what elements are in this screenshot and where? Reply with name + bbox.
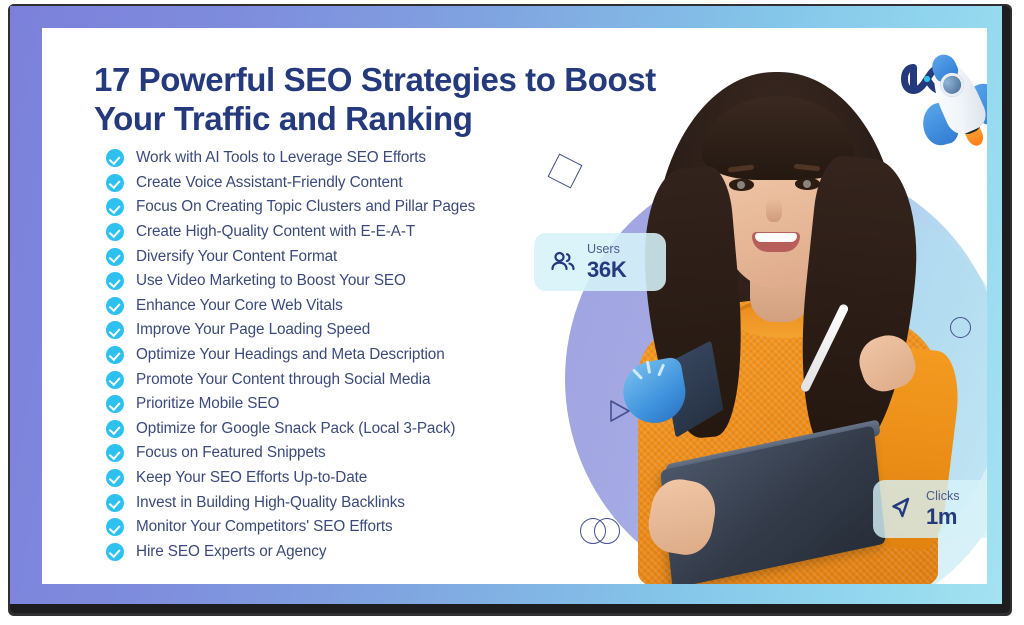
list-item-label: Hire SEO Experts or Agency <box>136 543 326 561</box>
eye-right <box>795 178 820 190</box>
seo-strategy-checklist: Work with AI Tools to Leverage SEO Effor… <box>106 146 576 564</box>
stat-label: Users <box>587 243 626 256</box>
check-circle-icon <box>106 297 124 315</box>
list-item: Hire SEO Experts or Agency <box>106 540 576 565</box>
check-circle-icon <box>106 469 124 487</box>
stat-label: Clicks <box>926 490 960 503</box>
overlapping-circles-outline-icon <box>580 518 624 546</box>
list-item-label: Focus On Creating Topic Clusters and Pil… <box>136 198 475 216</box>
list-item-label: Promote Your Content through Social Medi… <box>136 371 430 389</box>
circle-outline-icon <box>950 317 971 338</box>
stat-value: 1m <box>926 506 960 528</box>
list-item: Prioritize Mobile SEO <box>106 392 576 417</box>
mouth <box>752 232 800 252</box>
list-item-label: Prioritize Mobile SEO <box>136 395 279 413</box>
check-circle-icon <box>106 444 124 462</box>
check-circle-icon <box>106 248 124 266</box>
list-item-label: Optimize for Google Snack Pack (Local 3-… <box>136 420 455 438</box>
list-item-label: Work with AI Tools to Leverage SEO Effor… <box>136 149 426 167</box>
list-item: Work with AI Tools to Leverage SEO Effor… <box>106 146 576 171</box>
stat-card-clicks: Clicks 1m <box>873 480 987 538</box>
list-item: Create High-Quality Content with E-E-A-T <box>106 220 576 245</box>
eye-left <box>729 179 754 191</box>
list-item-label: Optimize Your Headings and Meta Descript… <box>136 346 445 364</box>
check-circle-icon <box>106 543 124 561</box>
stat-value: 36K <box>587 259 626 281</box>
users-group-icon <box>548 247 578 277</box>
list-item-label: Monitor Your Competitors' SEO Efforts <box>136 518 393 536</box>
check-circle-icon <box>106 149 124 167</box>
list-item-label: Create High-Quality Content with E-E-A-T <box>136 223 415 241</box>
list-item: Monitor Your Competitors' SEO Efforts <box>106 515 576 540</box>
megaphone-3d-icon <box>617 340 728 447</box>
list-item-label: Use Video Marketing to Boost Your SEO <box>136 272 406 290</box>
check-circle-icon <box>106 494 124 512</box>
check-circle-icon <box>106 223 124 241</box>
check-circle-icon <box>106 198 124 216</box>
list-item-label: Focus on Featured Snippets <box>136 444 326 462</box>
list-item-label: Diversify Your Content Format <box>136 248 337 266</box>
check-circle-icon <box>106 518 124 536</box>
list-item: Promote Your Content through Social Medi… <box>106 367 576 392</box>
list-item: Keep Your SEO Efforts Up-to-Date <box>106 466 576 491</box>
rocket-3d-icon <box>896 48 987 166</box>
check-circle-icon <box>106 371 124 389</box>
check-circle-icon <box>106 174 124 192</box>
check-circle-icon <box>106 346 124 364</box>
nose <box>766 198 782 222</box>
list-item: Optimize Your Headings and Meta Descript… <box>106 343 576 368</box>
slide-screenshot: 17 Powerful SEO Strategies to Boost Your… <box>0 0 1024 625</box>
list-item: Focus on Featured Snippets <box>106 441 576 466</box>
list-item-label: Improve Your Page Loading Speed <box>136 321 370 339</box>
list-item-label: Invest in Building High-Quality Backlink… <box>136 494 405 512</box>
list-item: Enhance Your Core Web Vitals <box>106 294 576 319</box>
list-item: Create Voice Assistant-Friendly Content <box>106 171 576 196</box>
teeth <box>755 233 797 242</box>
list-item-label: Create Voice Assistant-Friendly Content <box>136 174 402 192</box>
check-circle-icon <box>106 420 124 438</box>
slide-canvas: 17 Powerful SEO Strategies to Boost Your… <box>42 28 987 584</box>
list-item-label: Keep Your SEO Efforts Up-to-Date <box>136 469 367 487</box>
check-circle-icon <box>106 395 124 413</box>
gradient-frame: 17 Powerful SEO Strategies to Boost Your… <box>10 6 1002 604</box>
list-item: Diversify Your Content Format <box>106 244 576 269</box>
check-circle-icon <box>106 321 124 339</box>
list-item: Optimize for Google Snack Pack (Local 3-… <box>106 417 576 442</box>
cursor-arrow-icon <box>887 494 917 524</box>
list-item: Focus On Creating Topic Clusters and Pil… <box>106 195 576 220</box>
stat-card-users: Users 36K <box>534 233 666 291</box>
list-item-label: Enhance Your Core Web Vitals <box>136 297 343 315</box>
check-circle-icon <box>106 272 124 290</box>
list-item: Improve Your Page Loading Speed <box>106 318 576 343</box>
list-item: Use Video Marketing to Boost Your SEO <box>106 269 576 294</box>
list-item: Invest in Building High-Quality Backlink… <box>106 490 576 515</box>
